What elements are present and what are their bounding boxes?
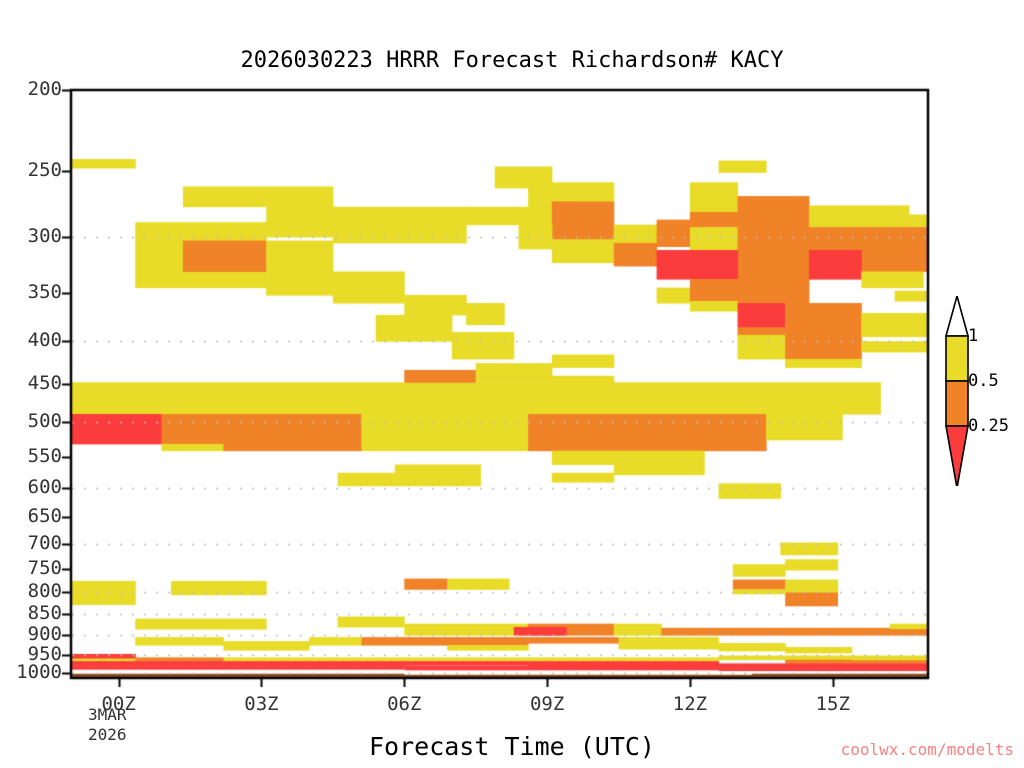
colorbar-tick-label: 0.5 [968, 373, 999, 390]
x-axis-tick-label: 09Z [507, 695, 587, 714]
x-axis-tick-label: 12Z [650, 695, 730, 714]
colorbar-tick-label: 0.25 [968, 418, 1009, 435]
x-axis-tick-label: 03Z [221, 695, 301, 714]
colorbar-over-arrow [946, 296, 968, 336]
x-axis-tick-labels: 00Z03Z06Z09Z12Z15Z [0, 0, 1024, 768]
x-axis-tick-label: 15Z [793, 695, 873, 714]
colorbar-tick-label: 1 [968, 328, 978, 345]
colorbar-legend[interactable]: 10.50.25 [938, 296, 1024, 486]
colorbar-under-arrow [946, 426, 968, 486]
chart-page: 2026030223 HRRR Forecast Richardson# KAC… [0, 0, 1024, 768]
colorbar-band [946, 336, 968, 381]
colorbar-swatches [938, 296, 1024, 486]
colorbar-band [946, 381, 968, 426]
x-axis-tick-label: 06Z [364, 695, 444, 714]
watermark-link[interactable]: coolwx.com/modelts [841, 740, 1014, 759]
